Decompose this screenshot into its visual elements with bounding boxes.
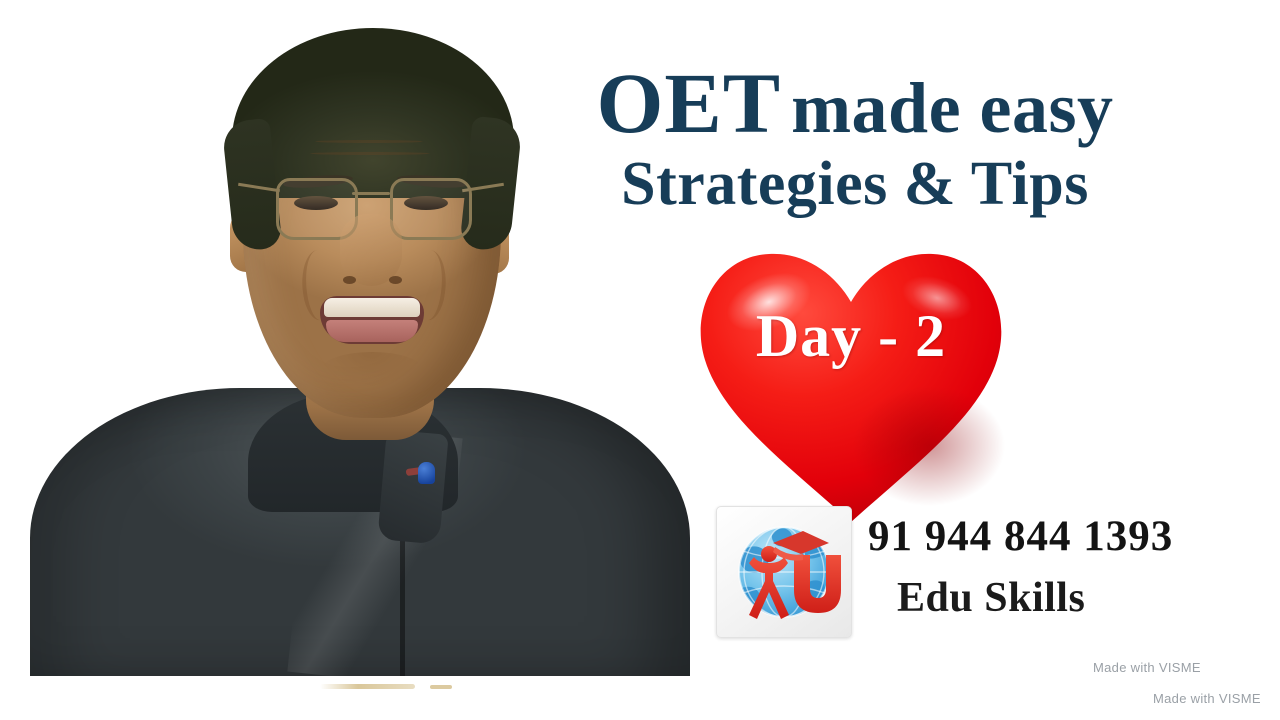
visme-watermark-secondary: Made with VISME xyxy=(1153,691,1261,706)
forehead-line xyxy=(310,152,430,155)
forehead-line xyxy=(315,140,423,143)
lower-lip xyxy=(326,320,418,342)
title-made-easy: made easy xyxy=(791,68,1113,148)
jacket-collar-right xyxy=(377,430,448,545)
presenter-mouth xyxy=(320,296,424,344)
visme-watermark-primary: Made with VISME xyxy=(1093,660,1201,675)
title-line-2: Strategies & Tips xyxy=(505,153,1205,215)
slide-canvas: OETmade easy Strategies & Tips xyxy=(0,0,1280,720)
glasses-lens-right xyxy=(390,178,472,240)
phone-number: 91 944 844 1393 xyxy=(868,512,1173,561)
nostril-right xyxy=(389,276,402,284)
title-oet: OET xyxy=(596,55,781,151)
day-label: Day - 2 xyxy=(693,302,1009,371)
glasses-bridge xyxy=(352,192,390,195)
day-badge: Day - 2 xyxy=(693,250,1009,526)
teeth xyxy=(324,298,420,317)
brand-name: Edu Skills xyxy=(897,574,1085,622)
globe-graduate-icon xyxy=(717,507,851,637)
title-block: OETmade easy Strategies & Tips xyxy=(505,62,1205,215)
nostril-left xyxy=(343,276,356,284)
edu-skills-logo xyxy=(716,506,852,638)
heart-shadow xyxy=(853,386,1005,506)
pocket-pen xyxy=(418,462,435,484)
photo-smudge-mark xyxy=(320,684,415,689)
heart-icon xyxy=(693,250,1009,526)
title-line-1: OETmade easy xyxy=(505,62,1205,145)
chin-shading xyxy=(322,352,422,386)
photo-smudge-mark xyxy=(430,685,452,689)
